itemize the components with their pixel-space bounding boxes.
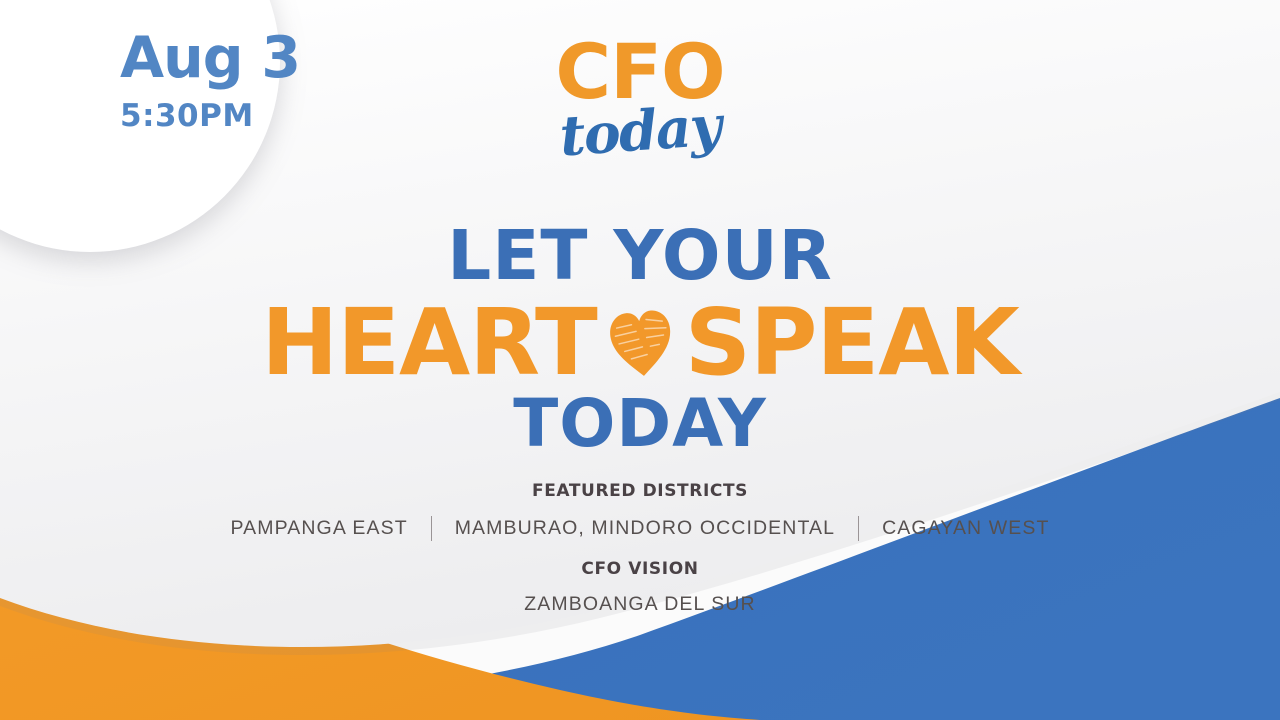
district-item: MAMBURAO, MINDORO OCCIDENTAL bbox=[432, 517, 858, 540]
cfo-vision-value: ZAMBOANGA DEL SUR bbox=[0, 593, 1280, 616]
brand-logo: CFO today bbox=[0, 36, 1280, 158]
featured-districts-list: PAMPANGA EAST MAMBURAO, MINDORO OCCIDENT… bbox=[0, 516, 1280, 541]
poster-canvas: Aug 3 5:30PM CFO today LET YOUR HEART bbox=[0, 0, 1280, 720]
district-item: PAMPANGA EAST bbox=[208, 517, 431, 540]
headline-line-3: TODAY bbox=[0, 391, 1280, 457]
featured-districts-label: FEATURED DISTRICTS bbox=[0, 481, 1280, 501]
heart-icon bbox=[605, 302, 677, 384]
cfo-vision-label: CFO VISION bbox=[0, 559, 1280, 579]
featured-districts-block: FEATURED DISTRICTS PAMPANGA EAST MAMBURA… bbox=[0, 481, 1280, 541]
poster-content: CFO today LET YOUR HEART bbox=[0, 0, 1280, 720]
headline-line-1: LET YOUR bbox=[0, 222, 1280, 291]
district-item: CAGAYAN WEST bbox=[859, 517, 1072, 540]
cfo-vision-block: CFO VISION ZAMBOANGA DEL SUR bbox=[0, 559, 1280, 616]
headline-word-heart: HEART bbox=[261, 297, 597, 389]
heart-icon-glyph bbox=[606, 304, 676, 382]
headline-line-2: HEART bbox=[0, 297, 1280, 389]
headline-block: LET YOUR HEART bbox=[0, 222, 1280, 457]
headline-word-speak: SPEAK bbox=[685, 297, 1019, 389]
